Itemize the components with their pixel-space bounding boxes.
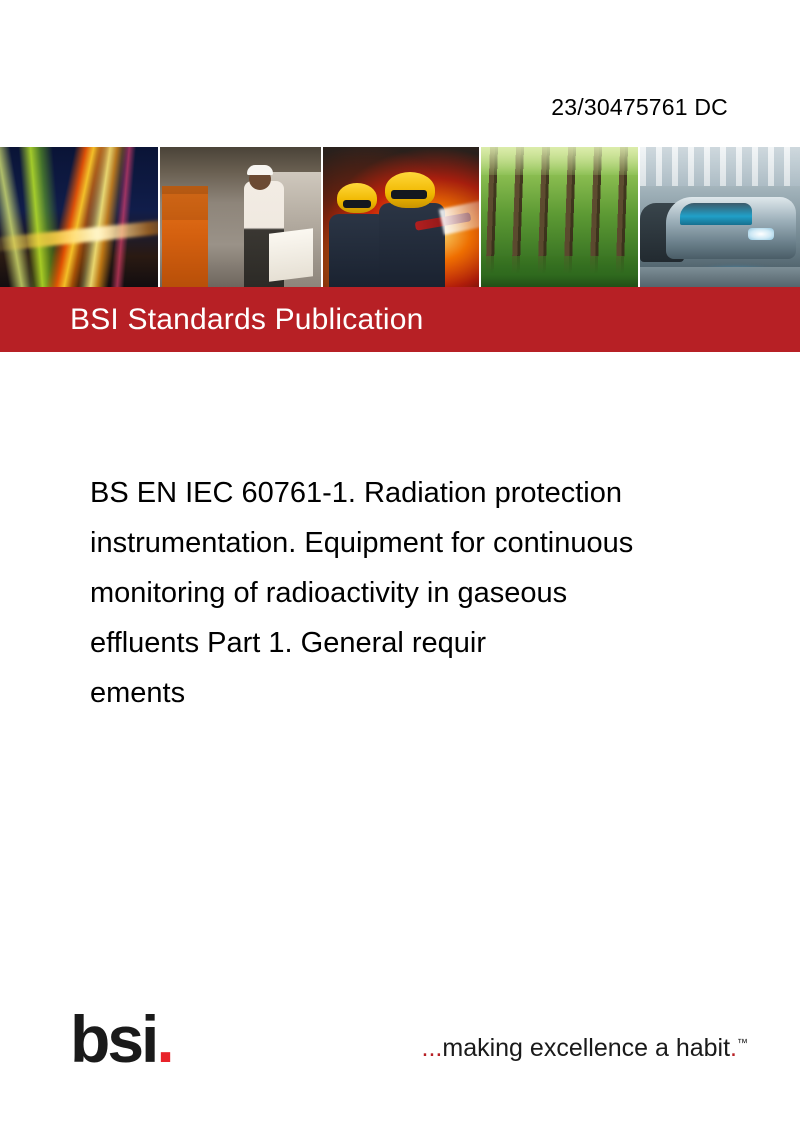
car-headlight bbox=[748, 228, 774, 240]
trademark-icon: ™ bbox=[737, 1038, 748, 1050]
warehouse-worker-cap bbox=[247, 165, 273, 175]
page-title: BS EN IEC 60761-1. Radiation protection … bbox=[90, 468, 730, 718]
hero-panel-forest bbox=[481, 147, 639, 287]
bsi-tagline: ...making excellence a habit.™ bbox=[422, 1034, 748, 1063]
standards-publication-banner: BSI Standards Publication bbox=[0, 287, 800, 352]
title-line-2: instrumentation. Equipment for continuou… bbox=[90, 518, 730, 568]
bsi-logo-text: bsi bbox=[70, 1002, 156, 1076]
hero-panel-firefighters bbox=[323, 147, 481, 287]
bsi-logo: bsi. bbox=[70, 1006, 172, 1072]
firefighter-visor-right bbox=[391, 190, 427, 199]
banner-title: BSI Standards Publication bbox=[70, 303, 424, 337]
firefighter-helmet-left bbox=[337, 183, 377, 213]
factory-floor bbox=[640, 267, 800, 287]
title-line-4: effluents Part 1. General requir bbox=[90, 618, 730, 668]
hero-image-strip bbox=[0, 147, 800, 287]
tagline-period: . bbox=[730, 1034, 737, 1062]
document-number: 23/30475761 DC bbox=[551, 94, 728, 121]
hero-panel-automotive-production bbox=[640, 147, 800, 287]
tagline-text: making excellence a habit bbox=[442, 1034, 730, 1062]
car-windscreen bbox=[680, 203, 752, 225]
title-line-3: monitoring of radioactivity in gaseous bbox=[90, 568, 730, 618]
title-line-1: BS EN IEC 60761-1. Radiation protection bbox=[90, 468, 730, 518]
firefighter-visor-left bbox=[343, 200, 371, 208]
bsi-logo-dot: . bbox=[156, 1002, 171, 1076]
firefighter-body-right bbox=[379, 203, 445, 287]
forest-canopy-light bbox=[481, 147, 637, 175]
tagline-ellipsis: ... bbox=[422, 1034, 443, 1062]
warehouse-crate bbox=[162, 186, 208, 287]
title-line-5: ements bbox=[90, 668, 730, 718]
factory-ceiling-lights bbox=[640, 147, 800, 186]
water-spray bbox=[439, 197, 481, 235]
hero-panel-transport-light-trails bbox=[0, 147, 160, 287]
warehouse-parcel bbox=[269, 228, 313, 281]
hero-panel-warehouse-worker bbox=[160, 147, 322, 287]
forest-floor bbox=[481, 256, 637, 287]
